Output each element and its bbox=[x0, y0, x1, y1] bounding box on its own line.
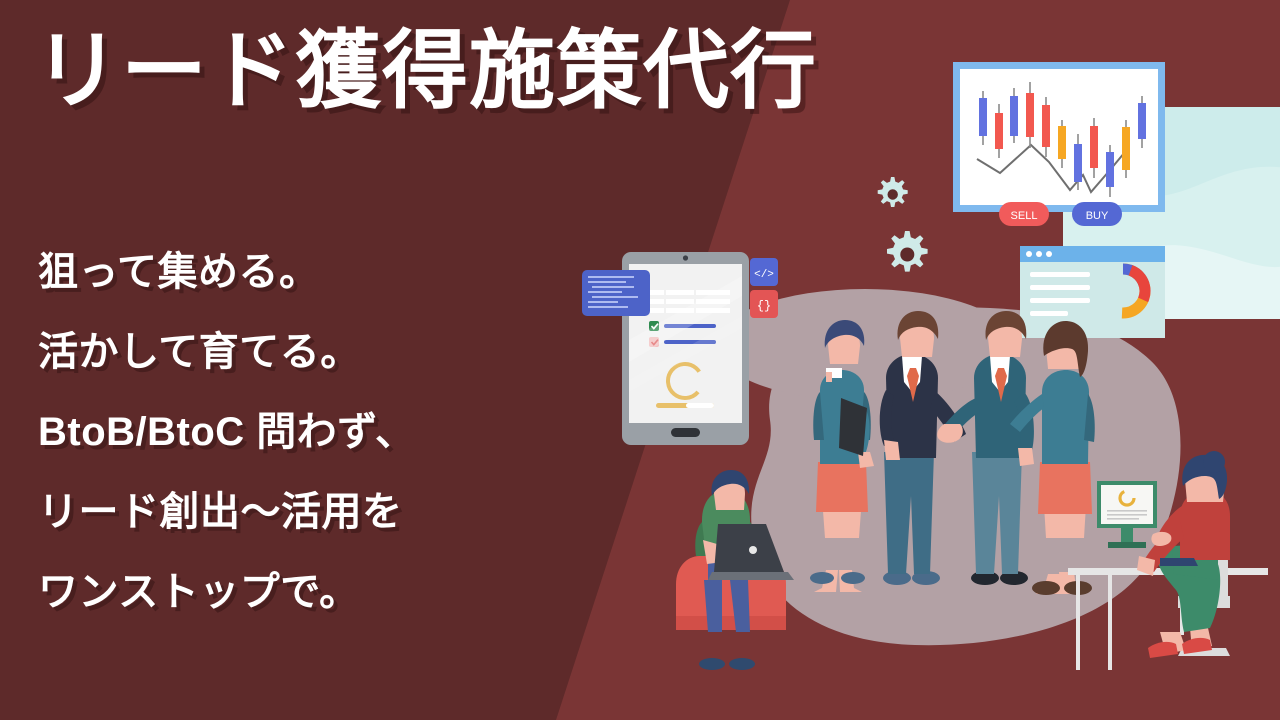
monitor-base bbox=[1108, 542, 1146, 548]
desk-leg bbox=[1108, 575, 1112, 670]
hair-bun bbox=[1203, 451, 1225, 473]
browser-dot bbox=[1046, 251, 1052, 257]
gear-icon-small bbox=[878, 177, 908, 207]
hand bbox=[1018, 448, 1034, 466]
shoe bbox=[699, 658, 725, 670]
desk-leg bbox=[1076, 575, 1080, 670]
laptop-base bbox=[708, 572, 794, 580]
buy-button[interactable]: BUY bbox=[1072, 202, 1122, 226]
tablet-home-button bbox=[671, 428, 700, 437]
curly-brace-badge: {} bbox=[750, 290, 778, 318]
browser-dot bbox=[1036, 251, 1042, 257]
page-title: リード獲得施策代行 bbox=[34, 28, 817, 114]
subheadline-line-3: BtoB/BtoC 問わず、 bbox=[38, 412, 598, 452]
subheadline-line-2: 活かして育てる。 bbox=[38, 332, 598, 372]
banner-stage: SELL BUY bbox=[0, 0, 1280, 720]
shoe bbox=[810, 572, 834, 584]
keyboard bbox=[1160, 558, 1198, 566]
laptop-logo bbox=[749, 546, 757, 554]
top bbox=[1042, 370, 1089, 464]
shoe bbox=[841, 572, 865, 584]
text-column: リード獲得施策代行 狙って集める。 活かして育てる。 BtoB/BtoC 問わず… bbox=[0, 0, 620, 720]
sell-button[interactable]: SELL bbox=[999, 202, 1049, 226]
monitor-stand bbox=[1121, 528, 1133, 542]
curly-brace-badge-label: {} bbox=[757, 299, 771, 313]
subheadline-line-1: 狙って集める。 bbox=[38, 252, 598, 292]
skirt bbox=[1038, 462, 1092, 514]
tablet-camera bbox=[683, 255, 688, 260]
boot bbox=[1032, 581, 1060, 595]
code-tag-badge: </> bbox=[750, 258, 778, 286]
browser-window-card bbox=[1020, 246, 1165, 338]
code-tag-badge-label: </> bbox=[754, 269, 774, 281]
tablet-held bbox=[839, 398, 867, 456]
couch-base bbox=[676, 616, 786, 630]
sell-button-label: SELL bbox=[1011, 210, 1038, 222]
subheadline-block: 狙って集める。 活かして育てる。 BtoB/BtoC 問わず、 リード創出〜活用… bbox=[38, 252, 598, 612]
buy-button-label: BUY bbox=[1086, 210, 1109, 222]
gear-icon-large bbox=[887, 231, 928, 272]
candlestick-chart-card bbox=[953, 62, 1165, 212]
browser-dot bbox=[1026, 251, 1032, 257]
subheadline-line-5: ワンストップで。 bbox=[38, 572, 598, 612]
skirt bbox=[816, 462, 868, 512]
shoe bbox=[729, 658, 755, 670]
subheadline-line-4: リード創出〜活用を bbox=[38, 492, 598, 532]
hand bbox=[884, 440, 900, 460]
